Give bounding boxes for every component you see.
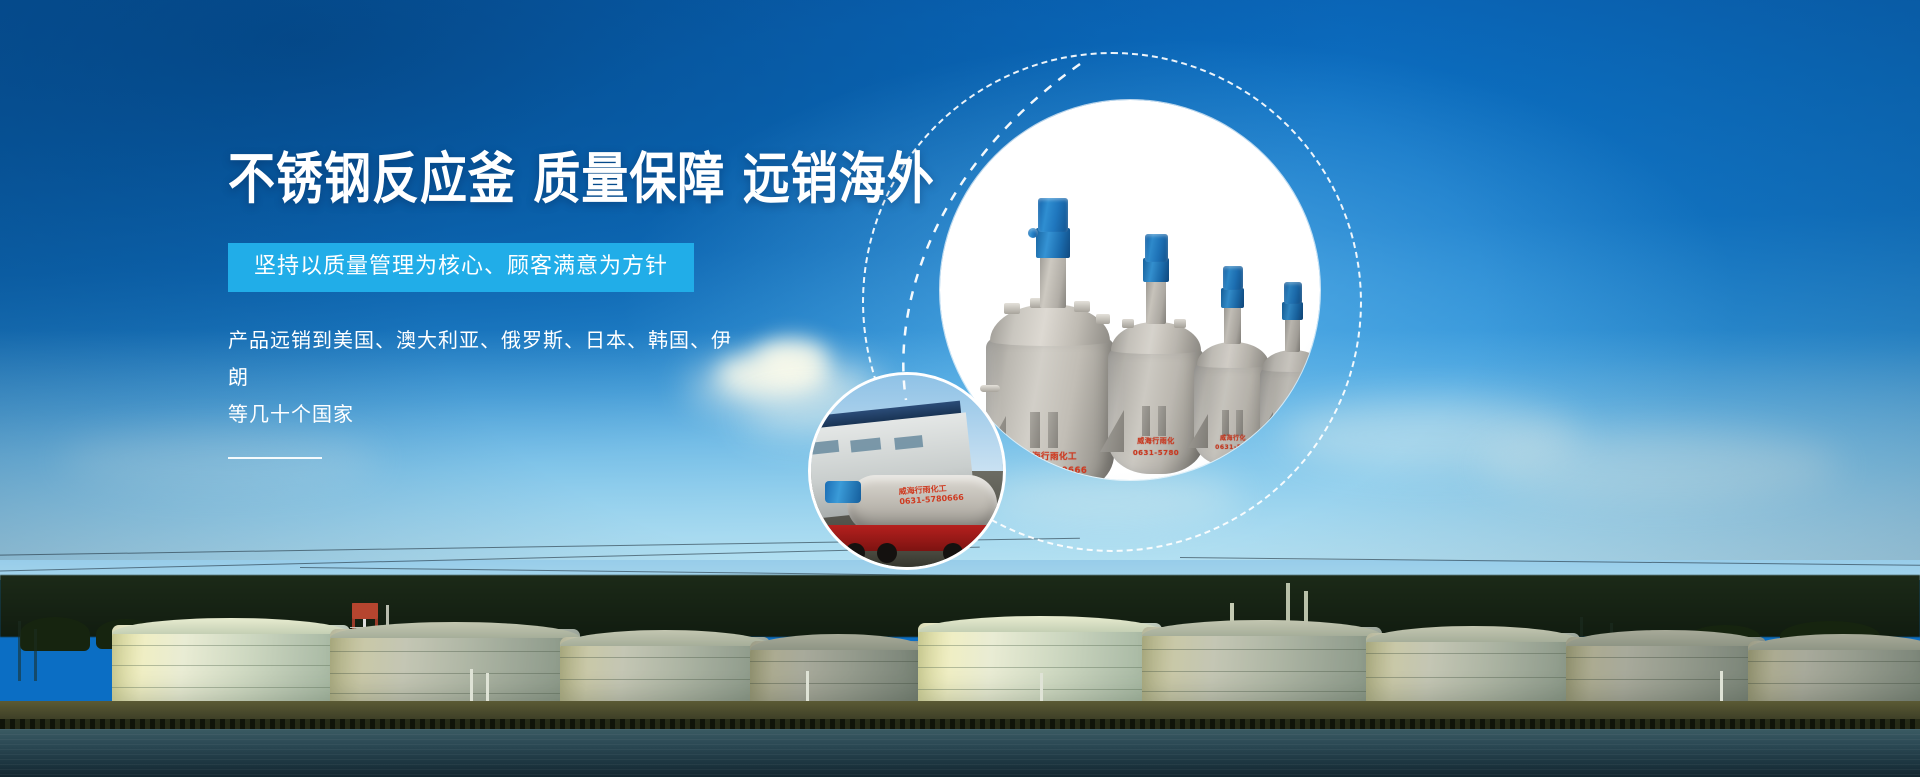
description-line-2: 等几十个国家 xyxy=(228,396,748,433)
reactor-motor xyxy=(825,481,861,503)
storage-tank xyxy=(330,629,580,711)
description-line-1: 产品远销到美国、澳大利亚、俄罗斯、日本、韩国、伊朗 xyxy=(228,322,748,396)
reactor-vessel: 威海行化 0631-578 xyxy=(1260,262,1320,458)
factory-window xyxy=(894,435,923,450)
banner-headline: 不锈钢反应釜 质量保障 远销海外 xyxy=(228,152,888,207)
harbour-water xyxy=(0,729,1920,777)
storage-tank xyxy=(1566,637,1766,711)
decorative-rule xyxy=(228,457,322,459)
storage-tank xyxy=(1142,627,1382,711)
reactor-vessel: 威海行雨化 0631-5780 xyxy=(1108,224,1204,474)
quay-mast xyxy=(1720,671,1723,705)
banner-copy: 不锈钢反应釜 质量保障 远销海外 坚持以质量管理为核心、顾客满意为方针 产品远销… xyxy=(228,152,888,459)
reactor-vessel: 威海行雨化工 0631-5780666 xyxy=(986,196,1114,480)
quay-mast xyxy=(470,669,473,705)
hero-banner: 威海行雨化工 0631-5780666 威海行雨化 0631-5780 xyxy=(0,0,1920,777)
power-line xyxy=(1180,557,1920,566)
quay-mast xyxy=(806,671,809,705)
storage-tank xyxy=(560,637,770,711)
storage-tank xyxy=(1366,633,1580,711)
truck-wheel xyxy=(943,543,963,563)
banner-description: 产品远销到美国、澳大利亚、俄罗斯、日本、韩国、伊朗 等几十个国家 xyxy=(228,322,748,433)
pylon xyxy=(18,621,21,681)
banner-tagline-badge: 坚持以质量管理为核心、顾客满意为方针 xyxy=(228,243,694,292)
truck-wheel xyxy=(845,543,865,563)
storage-tank xyxy=(112,625,350,711)
tree xyxy=(20,617,90,651)
pylon xyxy=(34,629,37,681)
truck-wheel xyxy=(877,543,897,563)
